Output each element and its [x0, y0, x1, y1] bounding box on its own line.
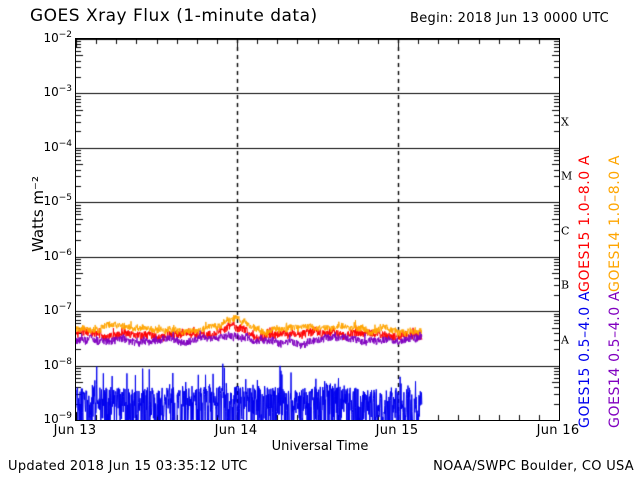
y-axis-tick-labels: 10−910−810−710−610−510−410−310−2 [28, 0, 72, 480]
x-axis-tick-labels: Jun 13Jun 14Jun 15Jun 16 [0, 423, 640, 443]
source-attribution: NOAA/SWPC Boulder, CO USA [433, 459, 634, 474]
y-tick-label: 10−8 [32, 357, 72, 372]
plot-area [75, 38, 560, 421]
y-tick-label: 10−7 [32, 302, 72, 317]
y-tick-label: 10−6 [32, 248, 72, 263]
legend-goes14-0-5-4-0-a: GOES14 0.5–4.0 A [607, 291, 623, 428]
flare-class-c: C [561, 224, 569, 237]
updated-timestamp: Updated 2018 Jun 15 03:35:12 UTC [8, 459, 248, 474]
y-tick-label: 10−5 [32, 193, 72, 208]
x-tick-label: Jun 15 [376, 423, 419, 438]
y-tick-label: 10−2 [32, 30, 72, 45]
y-tick-label: 10−4 [32, 139, 72, 154]
y-tick-label: 10−3 [32, 84, 72, 99]
flare-class-x: X [561, 115, 569, 128]
xray-flux-plot [76, 39, 559, 420]
legend-goes15-1-0-8-0-a: GOES15 1.0–8.0 A [577, 155, 593, 292]
x-tick-label: Jun 14 [215, 423, 258, 438]
chart-root: GOES Xray Flux (1-minute data) Begin: 20… [0, 0, 640, 480]
page-title: GOES Xray Flux (1-minute data) [30, 6, 318, 26]
flare-class-b: B [561, 279, 569, 292]
flare-class-m: M [561, 170, 572, 183]
x-tick-label: Jun 13 [54, 423, 97, 438]
legend-goes14-1-0-8-0-a: GOES14 1.0–8.0 A [607, 155, 623, 292]
flare-class-a: A [561, 333, 569, 346]
legend-goes15-0-5-4-0-a: GOES15 0.5–4.0 A [577, 291, 593, 428]
